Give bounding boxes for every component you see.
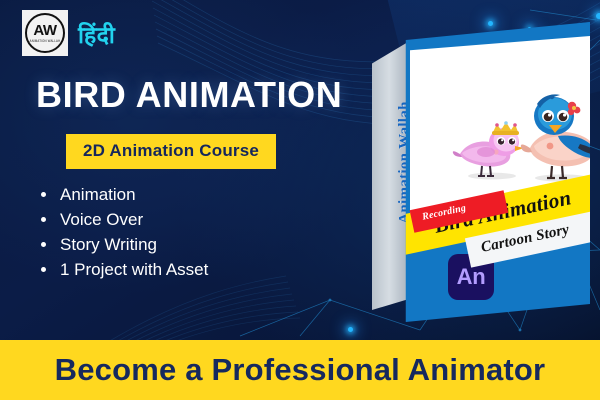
bullet-icon xyxy=(41,242,46,247)
feature-list: Animation Voice Over Story Writing 1 Pro… xyxy=(38,182,208,282)
bullet-icon xyxy=(41,217,46,222)
list-item: 1 Project with Asset xyxy=(38,257,208,282)
list-item-label: Voice Over xyxy=(60,210,143,229)
bullet-icon xyxy=(41,192,46,197)
glow-node xyxy=(348,327,353,332)
page-title: BIRD ANIMATION xyxy=(36,74,342,116)
list-item-label: Story Writing xyxy=(60,235,157,254)
footer-cta-banner: Become a Professional Animator xyxy=(0,340,600,400)
blue-bird-illustration xyxy=(520,92,590,182)
recording-tag-label: Recording xyxy=(421,203,467,223)
list-item-label: 1 Project with Asset xyxy=(60,260,208,279)
list-item: Animation xyxy=(38,182,208,207)
logo-subtext: ANIMATION WALLAH xyxy=(30,38,61,43)
course-promo-banner: AW ANIMATION WALLAH हिंदी BIRD ANIMATION… xyxy=(0,0,600,400)
box-spine: Animation Wallah xyxy=(372,42,408,310)
pink-bird-illustration xyxy=(452,118,528,180)
box-front-face: Bird Animation Cartoon Story Recording A… xyxy=(402,22,590,322)
glow-node xyxy=(596,13,600,19)
language-tag: हिंदी xyxy=(78,18,115,50)
bullet-icon xyxy=(41,267,46,272)
logo-initials: AW xyxy=(33,24,56,37)
list-item-label: Animation xyxy=(60,185,136,204)
list-item: Story Writing xyxy=(38,232,208,257)
footer-cta-text: Become a Professional Animator xyxy=(55,352,546,388)
course-type-badge: 2D Animation Course xyxy=(66,134,276,169)
list-item: Voice Over xyxy=(38,207,208,232)
product-box-mockup: Animation Wallah xyxy=(372,22,590,322)
brand-logo: AW ANIMATION WALLAH xyxy=(22,10,68,56)
logo-circle-icon: AW ANIMATION WALLAH xyxy=(25,13,65,53)
